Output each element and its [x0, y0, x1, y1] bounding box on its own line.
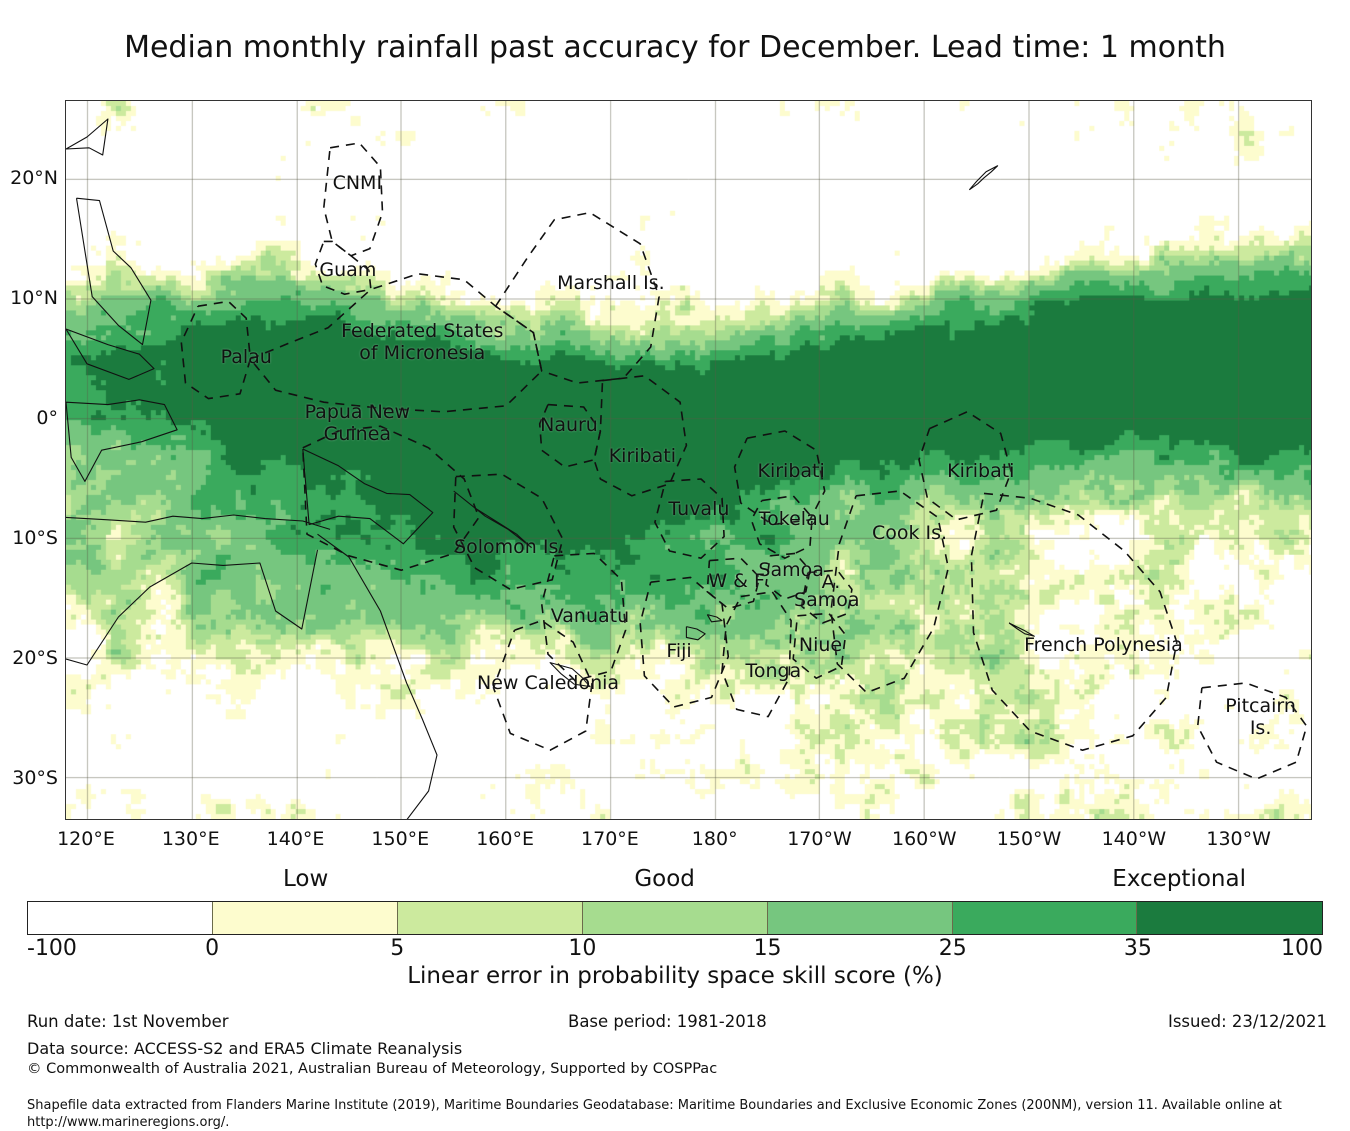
- map-label-tonga: Tonga: [745, 660, 801, 682]
- map-boundaries-overlay: [66, 101, 1312, 820]
- base-period-text: Base period: 1981-2018: [568, 1012, 767, 1031]
- map-plot-area: CNMIGuamPalauFederated States of Microne…: [65, 100, 1312, 820]
- run-date-text: Run date: 1st November: [27, 1012, 229, 1031]
- colorbar-axis-label: Linear error in probability space skill …: [0, 963, 1350, 989]
- colorbar-quality-exceptional: Exceptional: [1112, 866, 1246, 892]
- map-label-tokelau: Tokelau: [759, 508, 830, 530]
- issued-date-text: Issued: 23/12/2021: [1168, 1012, 1327, 1031]
- data-source-text: Data source: ACCESS-S2 and ERA5 Climate …: [27, 1038, 1327, 1059]
- eez-boundary: [971, 493, 1176, 750]
- map-label-guam: Guam: [319, 259, 376, 281]
- coastline: [66, 119, 108, 155]
- lon-tick-2: 140°E: [267, 828, 325, 850]
- colorbar-tick-3: 10: [568, 936, 596, 961]
- lat-tick-4: 20°S: [12, 647, 58, 669]
- map-label-cook-is: Cook Is.: [872, 522, 947, 544]
- footer-top-row: Run date: 1st November Base period: 1981…: [27, 1012, 1327, 1038]
- colorbar-tick-1: 0: [205, 936, 219, 961]
- colorbar-tick-5: 25: [939, 936, 967, 961]
- map-label-samoa: Samoa: [758, 559, 823, 581]
- lat-tick-2: 0°: [36, 407, 58, 429]
- colorbar: [27, 901, 1323, 935]
- lon-tick-0: 120°E: [57, 828, 115, 850]
- lat-tick-5: 30°S: [12, 767, 58, 789]
- eez-boundary: [722, 592, 791, 717]
- eez-boundary: [454, 474, 563, 589]
- map-label-vanuatu: Vanuatu: [551, 605, 629, 627]
- map-label-new-caledonia: New Caledonia: [477, 672, 619, 694]
- map-label-niue: Niue: [799, 634, 842, 656]
- coastline: [66, 550, 318, 665]
- map-label-nauru: Nauru: [540, 414, 598, 436]
- map-label-french-polynesia: French Polynesia: [1024, 634, 1183, 656]
- colorbar-tick-4: 15: [754, 936, 782, 961]
- colorbar-tick-2: 5: [390, 936, 404, 961]
- colorbar-segment-2: [398, 902, 583, 934]
- colorbar-tick-7: 100: [1281, 936, 1323, 961]
- coastline: [303, 449, 433, 544]
- shapefile-attribution-line2: http://www.marineregions.org/.: [27, 1114, 1327, 1131]
- coastline: [66, 515, 330, 529]
- lon-tick-5: 170°E: [581, 828, 639, 850]
- eez-boundary: [496, 213, 659, 383]
- colorbar-segment-4: [768, 902, 953, 934]
- colorbar-segment-1: [213, 902, 398, 934]
- lon-tick-6: 180°: [692, 828, 738, 850]
- lon-tick-4: 160°E: [476, 828, 534, 850]
- colorbar-segment-5: [953, 902, 1138, 934]
- lat-tick-1: 10°N: [10, 287, 58, 309]
- map-label-w-f: W & F: [708, 570, 765, 592]
- page-title: Median monthly rainfall past accuracy fo…: [0, 30, 1350, 65]
- coastline: [66, 400, 177, 482]
- copyright-text: © Commonwealth of Australia 2021, Austra…: [27, 1059, 1327, 1080]
- map-label-kiribati: Kiribati: [758, 460, 825, 482]
- map-label-kiribati: Kiribati: [609, 445, 676, 467]
- coastline: [686, 627, 705, 640]
- map-label-tuvalu: Tuvalu: [668, 498, 729, 520]
- map-label-marshall-is: Marshall Is.: [557, 272, 665, 294]
- coastline: [969, 166, 997, 190]
- map-label-federated-states-of-micronesia: Federated States of Micronesia: [341, 320, 503, 364]
- colorbar-segment-6: [1137, 902, 1322, 934]
- eez-boundary: [324, 143, 383, 256]
- coastline: [66, 329, 154, 379]
- colorbar-segment-0: [28, 902, 213, 934]
- map-label-cnmi: CNMI: [333, 172, 382, 194]
- shapefile-attribution-line1: Shapefile data extracted from Flanders M…: [27, 1097, 1327, 1114]
- map-label-solomon-is: Solomon Is.: [454, 536, 564, 558]
- colorbar-quality-good: Good: [634, 866, 695, 892]
- coastline: [707, 615, 722, 622]
- colorbar-tick-0: -100: [27, 936, 77, 961]
- colorbar-segment-3: [583, 902, 768, 934]
- lon-tick-9: 150°W: [997, 828, 1062, 850]
- lon-tick-1: 130°E: [162, 828, 220, 850]
- map-label-kiribati: Kiribati: [947, 460, 1014, 482]
- eez-boundary: [303, 426, 479, 570]
- eez-boundary: [594, 376, 686, 496]
- lon-tick-11: 130°W: [1206, 828, 1271, 850]
- colorbar-tick-6: 35: [1124, 936, 1152, 961]
- map-label-pitcairn-is: Pitcairn Is.: [1225, 695, 1296, 739]
- lon-tick-3: 150°E: [371, 828, 429, 850]
- coastline: [318, 534, 438, 820]
- footer: Run date: 1st November Base period: 1981…: [27, 1012, 1327, 1131]
- lon-tick-8: 160°W: [892, 828, 957, 850]
- lat-tick-3: 10°S: [12, 527, 58, 549]
- lon-tick-10: 140°W: [1102, 828, 1167, 850]
- map-label-palau: Palau: [221, 346, 272, 368]
- lat-tick-0: 20°N: [10, 167, 58, 189]
- coastline: [77, 198, 151, 344]
- map-label-fiji: Fiji: [666, 640, 691, 662]
- colorbar-quality-low: Low: [283, 866, 328, 892]
- map-label-papua-new-guinea: Papua New Guinea: [305, 401, 410, 445]
- lon-tick-7: 170°W: [787, 828, 852, 850]
- map-label-samoa: Samoa: [794, 589, 859, 611]
